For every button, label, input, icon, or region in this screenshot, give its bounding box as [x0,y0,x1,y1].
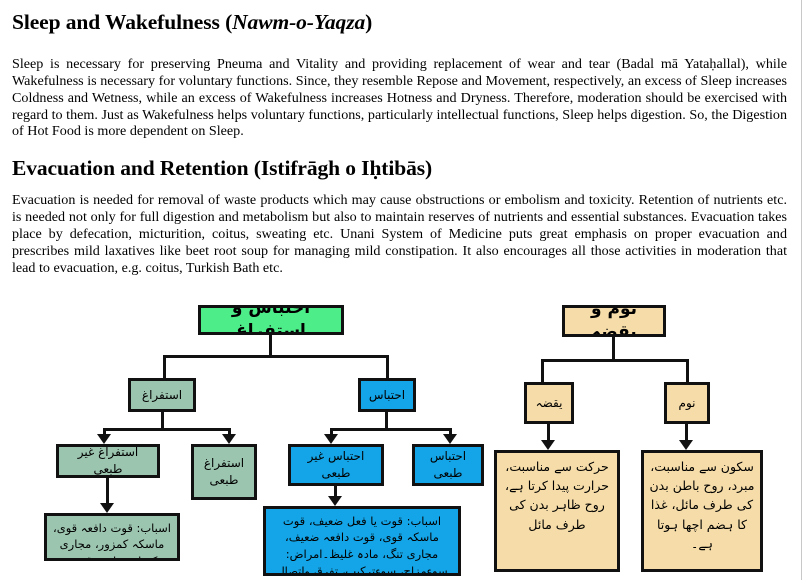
text-content: Sleep and Wakefulness (Nawm-o-Yaqza) Sle… [0,0,801,277]
spacer [12,140,787,152]
connector-evacuation-abnormal-stem [106,478,109,506]
connector-to-wakefulness [541,359,544,383]
title-plain-part: Sleep and Wakefulness ( [12,10,232,34]
paragraph-evacuation-retention: Evacuation is needed for removal of wast… [12,192,787,277]
spacer [12,36,787,56]
node-wakefulness: یقضہ [524,382,574,424]
node-sleep-leaf-details: سکون سے مناسبت، مبرد، روح باطن بدن کی طر… [641,450,763,572]
node-evacuation-abnormal: استفراغ غیر طبعی [56,444,160,478]
arrow-retention-abnormal [324,434,338,444]
connector-right-root-bus [541,359,689,362]
arrow-evacuation-normal [222,434,236,444]
node-evacuation-leaf-details: اسباب: قوت دافعہ قوی، ماسکہ کمزور، مجاری… [44,513,180,561]
node-root-evacuation-retention: احتباس و استفراغ [198,305,344,335]
connector-to-evacuation [163,355,166,379]
node-root-sleep-wakefulness: نوم و یقضہ [562,305,666,337]
arrow-evacuation-abnormal [97,434,111,444]
connector-to-sleep [686,359,689,383]
page-title-evacuation-retention: Evacuation and Retention (Istifrāgh o Iḥ… [12,156,787,182]
connector-retention-bus [330,428,452,431]
node-sleep: نوم [664,382,710,424]
node-retention: احتباس [358,378,416,412]
node-evacuation-normal: استفراغ طبعی [191,444,257,500]
arrow-retention-normal [443,434,457,444]
connector-to-retention [386,355,389,379]
flowchart-diagram: احتباس و استفراغ استفراغ احتباس استفراغ … [0,281,802,543]
arrow-sleep-leaf [679,440,693,450]
arrow-retention-leaf [328,496,342,506]
node-retention-abnormal: احتباس غیر طبعی [288,444,384,486]
page-title-sleep-wakefulness: Sleep and Wakefulness (Nawm-o-Yaqza) [12,10,787,36]
connector-right-root-stem [612,337,615,361]
arrow-wakefulness-leaf [541,440,555,450]
paragraph-sleep-wakefulness: Sleep is necessary for preserving Pneuma… [12,56,787,141]
node-retention-normal: احتباس طبعی [412,444,484,486]
spacer [12,182,787,192]
node-wakefulness-leaf-details: حرکت سے مناسبت، حرارت پیدا کرتا ہے، روح … [494,450,620,572]
connector-evacuation-bus [103,428,231,431]
arrow-evacuation-leaf [100,503,114,513]
title-tail-part: ) [365,10,372,34]
connector-root-stem [269,335,272,357]
title-italic-part: Nawm-o-Yaqza [232,10,365,34]
connector-root-bus [163,355,389,358]
node-evacuation: استفراغ [128,378,196,412]
node-retention-leaf-details: اسباب: قوت یا فعل ضعیف، قوت ماسکہ قوی، ق… [263,506,461,576]
document-page: Sleep and Wakefulness (Nawm-o-Yaqza) Sle… [0,0,802,580]
